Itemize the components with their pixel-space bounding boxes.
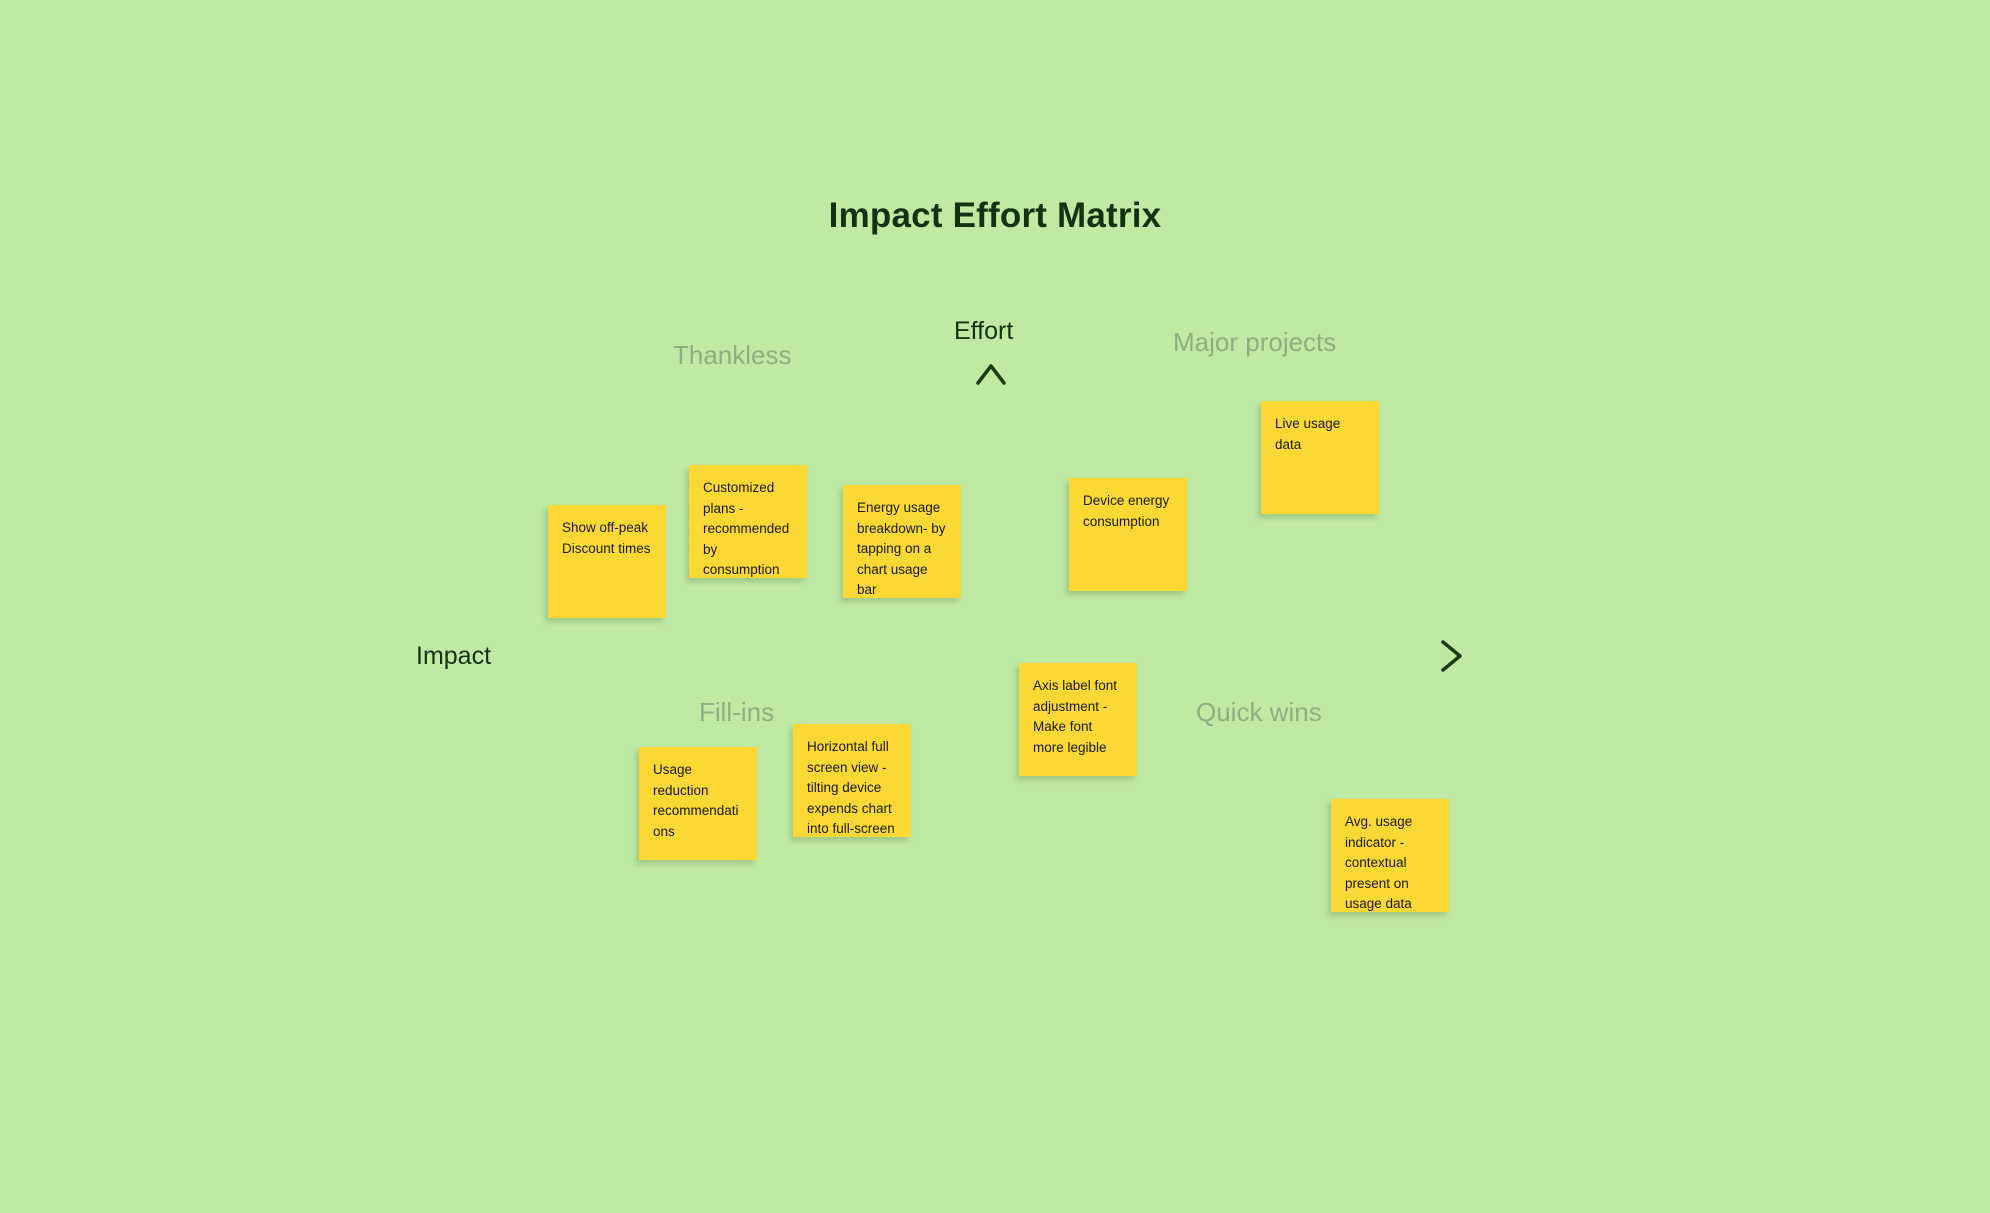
sticky-note[interactable]: Axis label font adjustment - Make font m… xyxy=(1019,663,1137,776)
sticky-note[interactable]: Show off-peak Discount times xyxy=(548,505,666,618)
sticky-note[interactable]: Horizontal full screen view - tilting de… xyxy=(793,724,911,837)
quadrant-label-major-projects: Major projects xyxy=(1173,327,1336,358)
axis-label-effort: Effort xyxy=(954,317,1013,346)
quadrant-label-quick-wins: Quick wins xyxy=(1196,697,1322,728)
sticky-note[interactable]: Live usage data xyxy=(1261,401,1379,514)
sticky-note[interactable]: Customized plans - recommended by consum… xyxy=(689,465,807,578)
sticky-note[interactable]: Usage reduction recommendations xyxy=(639,747,757,860)
sticky-note[interactable]: Energy usage breakdown- by tapping on a … xyxy=(843,485,961,598)
axes-graphic xyxy=(0,0,1990,1213)
impact-effort-matrix-board: Impact Effort Matrix Effort Impact xyxy=(0,0,1990,1213)
axis-label-impact: Impact xyxy=(416,642,491,671)
sticky-note[interactable]: Avg. usage indicator - contextual presen… xyxy=(1331,799,1449,912)
quadrant-label-thankless: Thankless xyxy=(673,340,792,371)
quadrant-label-fill-ins: Fill-ins xyxy=(699,697,774,728)
sticky-note[interactable]: Device energy consumption xyxy=(1069,478,1187,591)
page-title: Impact Effort Matrix xyxy=(0,196,1990,236)
